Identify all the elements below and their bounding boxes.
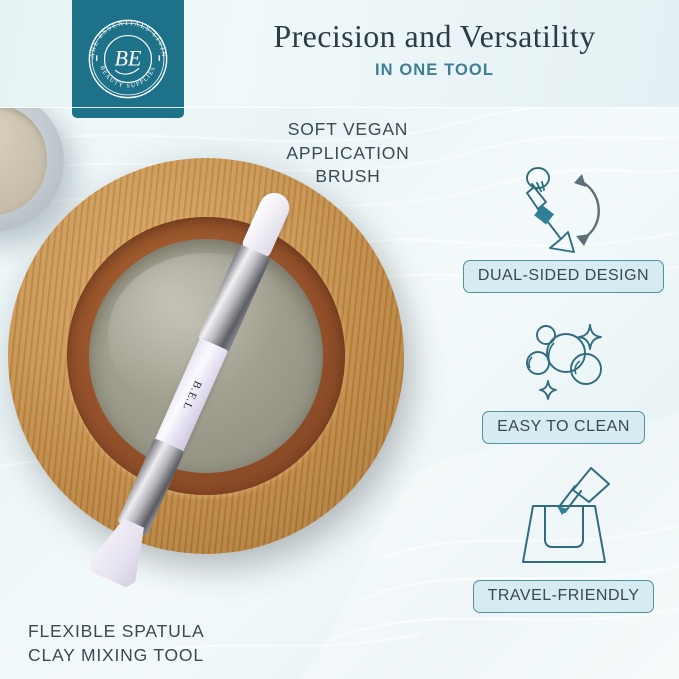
- brand-seal-icon: BARE ESSENTIALS LIVING BEAUTY SUPPLIES B…: [82, 13, 174, 105]
- badge-easy-to-clean[interactable]: EASY TO CLEAN: [482, 411, 645, 444]
- badge-travel-friendly[interactable]: TRAVEL-FRIENDLY: [473, 580, 655, 613]
- header-band: BARE ESSENTIALS LIVING BEAUTY SUPPLIES B…: [0, 0, 679, 108]
- callout-spatula-line2: CLAY MIXING TOOL: [28, 644, 205, 668]
- infographic-page: B.E.L BARE ESSENTIALS LIVING BEAUTY S: [0, 0, 679, 679]
- bubbles-sparkle-icon: [504, 311, 624, 411]
- callout-spatula-line1: FLEXIBLE SPATULA: [28, 620, 205, 644]
- brush-in-cosmetic-bag-icon: [499, 462, 629, 580]
- brand-logo-box: BARE ESSENTIALS LIVING BEAUTY SUPPLIES B…: [72, 0, 184, 118]
- feature-icon-slot: [448, 160, 679, 260]
- feature-icon-slot: [448, 462, 679, 580]
- header-title-block: Precision and Versatility IN ONE TOOL: [190, 18, 679, 80]
- feature-icon-slot: [448, 311, 679, 411]
- feature-easy-to-clean: EASY TO CLEAN: [448, 311, 679, 444]
- dual-ended-brush-rotate-icon: [504, 160, 624, 260]
- callout-brush-line2: APPLICATION BRUSH: [252, 142, 444, 189]
- feature-list: DUAL-SIDED DESIGN: [448, 160, 679, 613]
- page-subtitle: IN ONE TOOL: [190, 61, 679, 80]
- callout-flexible-spatula: FLEXIBLE SPATULA CLAY MIXING TOOL: [28, 620, 205, 667]
- feature-travel-friendly: TRAVEL-FRIENDLY: [448, 462, 679, 613]
- svg-text:BE: BE: [115, 45, 142, 70]
- feature-dual-sided-design: DUAL-SIDED DESIGN: [448, 160, 679, 293]
- callout-soft-vegan-brush: SOFT VEGAN APPLICATION BRUSH: [252, 118, 444, 189]
- badge-dual-sided-design[interactable]: DUAL-SIDED DESIGN: [463, 260, 664, 293]
- page-title: Precision and Versatility: [190, 18, 679, 55]
- brush-handle-logo-text: B.E.L: [180, 379, 204, 412]
- callout-brush-line1: SOFT VEGAN: [252, 118, 444, 142]
